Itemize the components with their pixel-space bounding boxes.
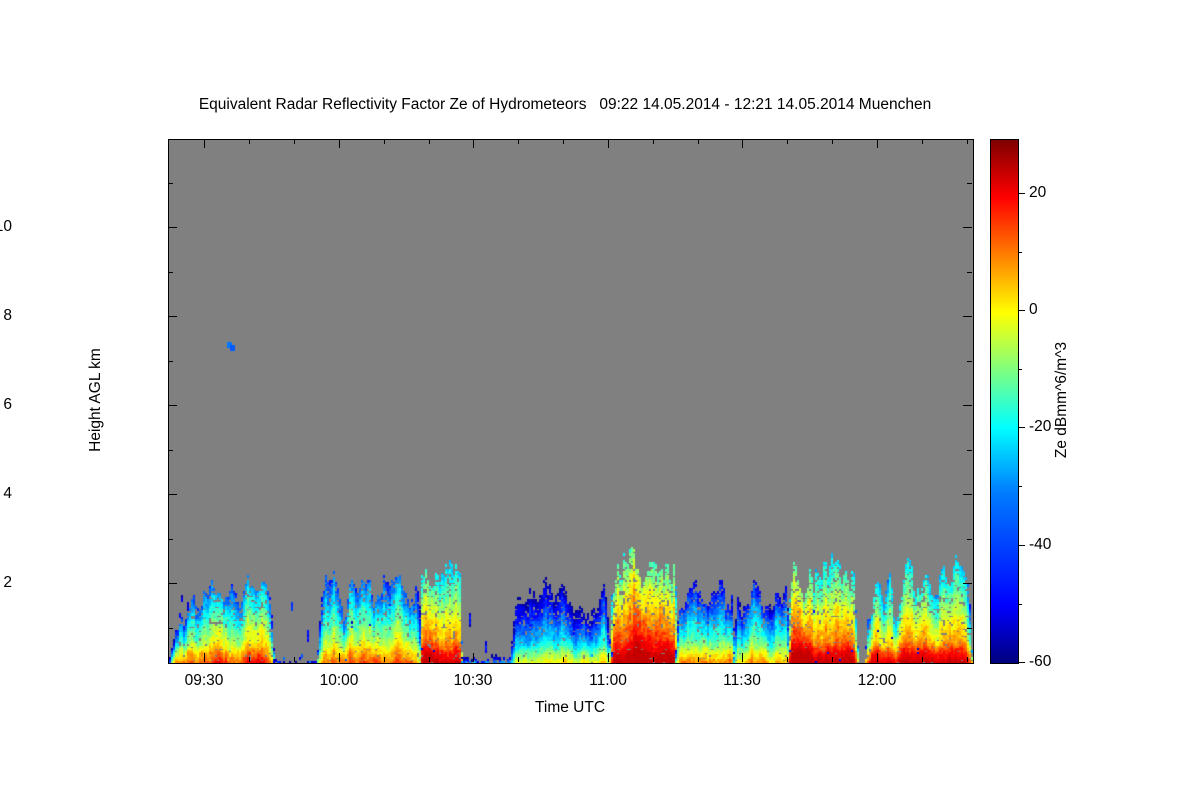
x-tick-top-minor-1050 [563, 139, 564, 144]
y-tick-right-10 [963, 227, 972, 228]
x-tick-minor-1050 [563, 657, 564, 662]
y-tick-minor-11 [168, 183, 173, 184]
colorbar-label-m40: -40 [1029, 536, 1051, 554]
y-tick-minor-1 [168, 628, 173, 629]
x-tick-minor-1040 [518, 657, 519, 662]
colorbar-tick-0 [1018, 310, 1025, 311]
y-tick-right-minor-11 [967, 183, 972, 184]
y-tick-10 [168, 227, 177, 228]
y-tick-6 [168, 405, 177, 406]
colorbar-label-20: 20 [1029, 184, 1046, 202]
x-tick-minor-1010 [384, 657, 385, 662]
x-ticklabel-1130: 11:30 [697, 672, 787, 690]
x-tick-top-minor-1020 [429, 139, 430, 144]
x-tick-1130 [742, 653, 743, 662]
x-tick-minor-0940 [249, 657, 250, 662]
x-tick-top-1030 [473, 139, 474, 148]
plot-area[interactable] [168, 139, 974, 664]
x-tick-minor-1110 [653, 657, 654, 662]
colorbar-label-0: 0 [1029, 301, 1038, 319]
reflectivity-heatmap [169, 140, 973, 663]
x-ticklabel-1030: 10:30 [428, 672, 518, 690]
x-tick-top-minor-1110 [653, 139, 654, 144]
colorbar-tick-m20 [1018, 427, 1025, 428]
y-ticklabel-2: 2 [0, 574, 12, 592]
y-tick-2 [168, 583, 177, 584]
y-tick-right-minor-1 [967, 628, 972, 629]
x-tick-top-minor-1120 [698, 139, 699, 144]
x-tick-top-1200 [877, 139, 878, 148]
y-axis-title: Height AGL km [87, 348, 105, 452]
x-tick-top-minor-1040 [518, 139, 519, 144]
y-tick-minor-5 [168, 450, 173, 451]
x-tick-minor-1150 [832, 657, 833, 662]
y-tick-right-6 [963, 405, 972, 406]
x-tick-1000 [339, 653, 340, 662]
y-tick-right-minor-5 [967, 450, 972, 451]
x-ticklabel-1200: 12:00 [832, 672, 922, 690]
y-tick-right-8 [963, 316, 972, 317]
x-tick-top-minor-1210 [922, 139, 923, 144]
x-axis-title: Time UTC [168, 699, 972, 717]
x-tick-1100 [608, 653, 609, 662]
x-tick-top-minor-1220 [967, 139, 968, 144]
x-tick-top-minor-1010 [384, 139, 385, 144]
y-ticklabel-8: 8 [0, 307, 12, 325]
x-tick-top-1000 [339, 139, 340, 148]
x-ticklabel-1100: 11:00 [563, 672, 653, 690]
colorbar-tick-minor-m50 [1018, 604, 1022, 605]
x-tick-minor-0950 [294, 657, 295, 662]
y-tick-right-minor-9 [967, 272, 972, 273]
x-tick-1030 [473, 653, 474, 662]
colorbar-tick-m40 [1018, 545, 1025, 546]
y-tick-minor-7 [168, 361, 173, 362]
colorbar[interactable] [990, 139, 1019, 664]
x-tick-minor-1140 [787, 657, 788, 662]
y-tick-8 [168, 316, 177, 317]
colorbar-tick-minor-10 [1018, 252, 1022, 253]
x-tick-top-1130 [742, 139, 743, 148]
x-tick-minor-1120 [698, 657, 699, 662]
y-tick-right-4 [963, 494, 972, 495]
x-ticklabel-1000: 10:00 [294, 672, 384, 690]
x-tick-minor-1020 [429, 657, 430, 662]
page-title: Equivalent Radar Reflectivity Factor Ze … [0, 96, 1130, 114]
x-tick-top-minor-1150 [832, 139, 833, 144]
colorbar-tick-20 [1018, 193, 1025, 194]
colorbar-tick-minor-m30 [1018, 486, 1022, 487]
x-tick-top-0930 [204, 139, 205, 148]
y-tick-right-2 [963, 583, 972, 584]
x-tick-top-minor-0950 [294, 139, 295, 144]
y-tick-right-minor-7 [967, 361, 972, 362]
y-tick-minor-3 [168, 539, 173, 540]
x-tick-top-1100 [608, 139, 609, 148]
y-tick-minor-9 [168, 272, 173, 273]
x-ticklabel-0930: 09:30 [159, 672, 249, 690]
x-tick-minor-1220 [967, 657, 968, 662]
x-tick-top-minor-1140 [787, 139, 788, 144]
y-tick-4 [168, 494, 177, 495]
colorbar-label-m20: -20 [1029, 418, 1051, 436]
x-tick-minor-1210 [922, 657, 923, 662]
colorbar-title: Ze dBmm^6/m^3 [1053, 342, 1071, 458]
colorbar-tick-m60 [1018, 662, 1025, 663]
x-tick-top-minor-0940 [249, 139, 250, 144]
radar-reflectivity-figure: Equivalent Radar Reflectivity Factor Ze … [0, 0, 1200, 800]
x-tick-0930 [204, 653, 205, 662]
y-ticklabel-10: 10 [0, 218, 12, 236]
y-ticklabel-6: 6 [0, 396, 12, 414]
y-tick-right-minor-3 [967, 539, 972, 540]
x-tick-1200 [877, 653, 878, 662]
colorbar-label-m60: -60 [1029, 653, 1051, 671]
colorbar-tick-minor-m10 [1018, 369, 1022, 370]
y-ticklabel-4: 4 [0, 485, 12, 503]
